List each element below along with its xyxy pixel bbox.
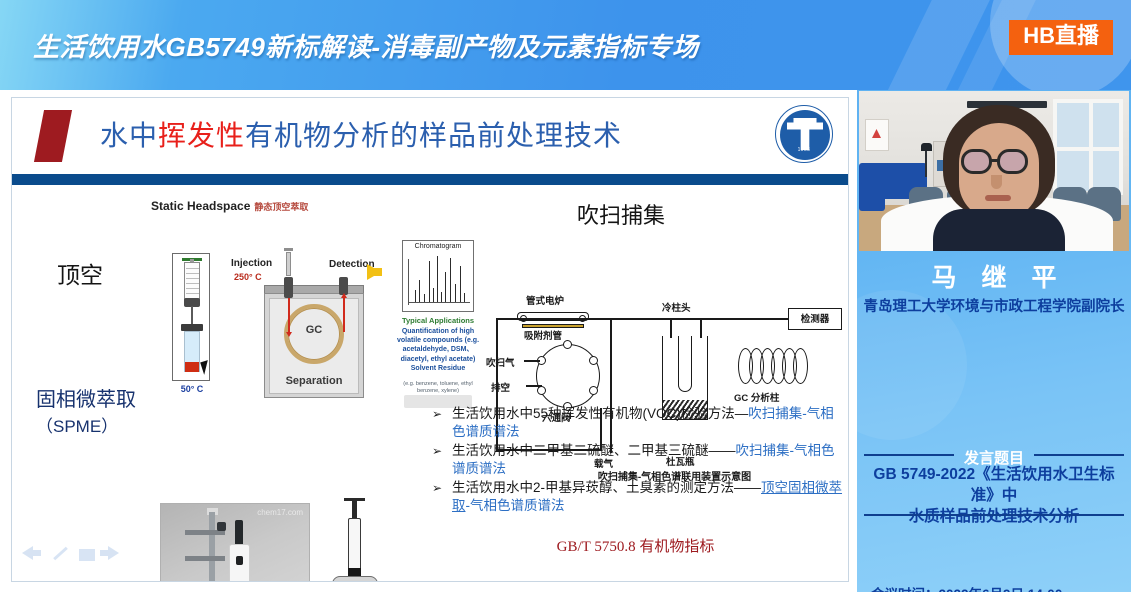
label-spme-sub: （SPME） — [36, 417, 118, 436]
meeting-time-label: 会议时间： — [871, 587, 939, 592]
university-seal-logo: 1953 — [775, 105, 833, 163]
bullet-arrow-icon: ➢ — [432, 443, 442, 459]
topic-divider-right — [1034, 454, 1124, 456]
spme-syringe-diagram — [332, 498, 378, 582]
gc-column-coil-icon — [738, 348, 810, 384]
static-headspace-heading-en: Static Headspace — [151, 199, 250, 213]
vent-label: 排空 — [491, 380, 510, 394]
label-headspace-cn: 顶空 — [57, 256, 103, 290]
static-headspace-heading-cn: 静态顶空萃取 — [254, 202, 308, 212]
slide-title: 水中挥发性有机物分析的样品前处理技术 — [100, 114, 622, 154]
slide-title-part2: 有机物分析的样品前处理技术 — [245, 120, 622, 151]
furnace-label: 管式电炉 — [526, 293, 564, 307]
cold-head-label: 冷柱头 — [662, 300, 691, 314]
slide-title-highlight: 挥发性 — [158, 120, 245, 151]
bullet-arrow-icon: ➢ — [432, 406, 442, 422]
purge-trap-title: 吹扫捕集 — [577, 198, 665, 230]
slide-title-bar: 水中挥发性有机物分析的样品前处理技术 1953 — [12, 98, 849, 173]
list-item: ➢ 生活饮用水中55种挥发性有机物(VOC)检验方法—吹扫捕集-气相色谱质谱法 — [428, 405, 843, 441]
chromatogram-panel — [402, 240, 474, 312]
yellow-arrow-icon — [367, 264, 381, 280]
static-headspace-heading: Static Headspace静态顶空萃取 — [151, 199, 308, 213]
speaker-panel: 马 继 平 青岛理工大学环境与市政工程学院副院长 发言题目 GB 5749-20… — [857, 90, 1131, 592]
bullet-arrow-icon: ➢ — [432, 480, 442, 496]
back-arrow-icon[interactable] — [22, 546, 33, 560]
slide-title-underline — [12, 174, 849, 185]
topic-divider-bottom — [864, 514, 1124, 516]
tube-furnace-icon — [517, 312, 589, 321]
forward-arrow-icon[interactable] — [108, 546, 119, 560]
bullet-text-blue: -气相色谱质谱法 — [466, 498, 565, 513]
typical-applications-body: Quantification of high volatile compound… — [393, 327, 483, 373]
injection-label: Injection — [231, 258, 272, 269]
topic-line-2: 水质样品前处理技术分析 — [909, 508, 1080, 525]
seal-year: 1953 — [776, 147, 832, 153]
typical-applications-note: (e.g. benzene, toluene, ethyl benzene, x… — [393, 381, 483, 395]
separation-label: Separation — [264, 375, 364, 387]
bullet-list: ➢ 生活饮用水中55种挥发性有机物(VOC)检验方法—吹扫捕集-气相色谱质谱法 … — [428, 405, 843, 516]
speaker-video-feed[interactable] — [859, 91, 1129, 251]
meeting-info: 会议时间：2022年6月9日 14:00 主办单位：上海同巨文化传播有限公司 环… — [871, 584, 1131, 592]
gc-label: GC — [264, 324, 364, 336]
live-badge: HB直播 — [1009, 20, 1113, 55]
detector-box-icon: 检测器 — [788, 308, 842, 330]
gc-column-label: GC 分析柱 — [734, 390, 779, 404]
injection-syringe-icon — [286, 252, 291, 276]
bullet-text-black: 生活饮用水中55种挥发性有机物(VOC)检验方法— — [452, 406, 748, 421]
window-background — [1053, 99, 1123, 195]
label-spme-main: 固相微萃取 — [36, 389, 136, 411]
topic-text: GB 5749-2022《生活饮用水卫生标准》中 水质样品前处理技术分析 — [863, 465, 1125, 527]
bullet-text-black: 生活饮用水中2-甲基异莰醇、土臭素的测定方法—— — [452, 480, 761, 495]
meeting-time-value: 2022年6月9日 14:00 — [939, 587, 1063, 592]
injection-temperature-label: 250° C — [234, 272, 262, 282]
typical-applications-title: Typical Applications — [395, 316, 481, 325]
page-title: 生活饮用水GB5749新标解读-消毒副产物及元素指标专场 — [33, 27, 699, 64]
spme-apparatus-photo: chem17.com — [160, 503, 310, 582]
slide-toolbar[interactable] — [22, 546, 132, 570]
purge-gas-label: 吹扫气 — [486, 355, 515, 369]
app-header: 生活饮用水GB5749新标解读-消毒副产物及元素指标专场 HB直播 — [0, 0, 1131, 90]
speaker-avatar — [935, 105, 1063, 251]
standard-reference-note: GB/T 5750.8 有机物指标 — [428, 535, 843, 556]
glasses-icon — [961, 149, 992, 174]
pen-icon[interactable] — [53, 547, 68, 561]
speaker-name: 马 继 平 — [857, 258, 1131, 294]
bullet-text-black: 生活饮用水中二甲基二硫醚、二甲基三硫醚—— — [452, 443, 736, 458]
adsorbent-label: 吸附剂管 — [524, 328, 562, 342]
slide-title-part1: 水中 — [100, 120, 158, 151]
list-item: ➢ 生活饮用水中2-甲基异莰醇、土臭素的测定方法——顶空固相微萃取-气相色谱质谱… — [428, 479, 843, 515]
vial-temperature-label: 50° C — [162, 384, 222, 394]
injection-port-icon — [284, 277, 293, 298]
speaker-role: 青岛理工大学环境与市政工程学院副院长 — [857, 295, 1131, 316]
label-spme: 固相微萃取 （SPME） — [36, 388, 136, 439]
topic-line-1: GB 5749-2022《生活饮用水卫生标准》中 — [873, 466, 1114, 504]
list-item: ➢ 生活饮用水中二甲基二硫醚、二甲基三硫醚——吹扫捕集-气相色谱质谱法 — [428, 442, 843, 478]
six-way-valve-icon — [536, 344, 600, 408]
chromatogram-label: Chromatogram — [402, 243, 474, 250]
slide-viewport[interactable]: 水中挥发性有机物分析的样品前处理技术 1953 Static Headspace… — [11, 97, 849, 582]
photo-watermark: chem17.com — [257, 508, 303, 517]
menu-icon[interactable] — [79, 549, 95, 561]
wall-art-background — [865, 119, 889, 151]
title-accent-mark — [34, 110, 72, 162]
detector-label: 检测器 — [789, 309, 841, 331]
